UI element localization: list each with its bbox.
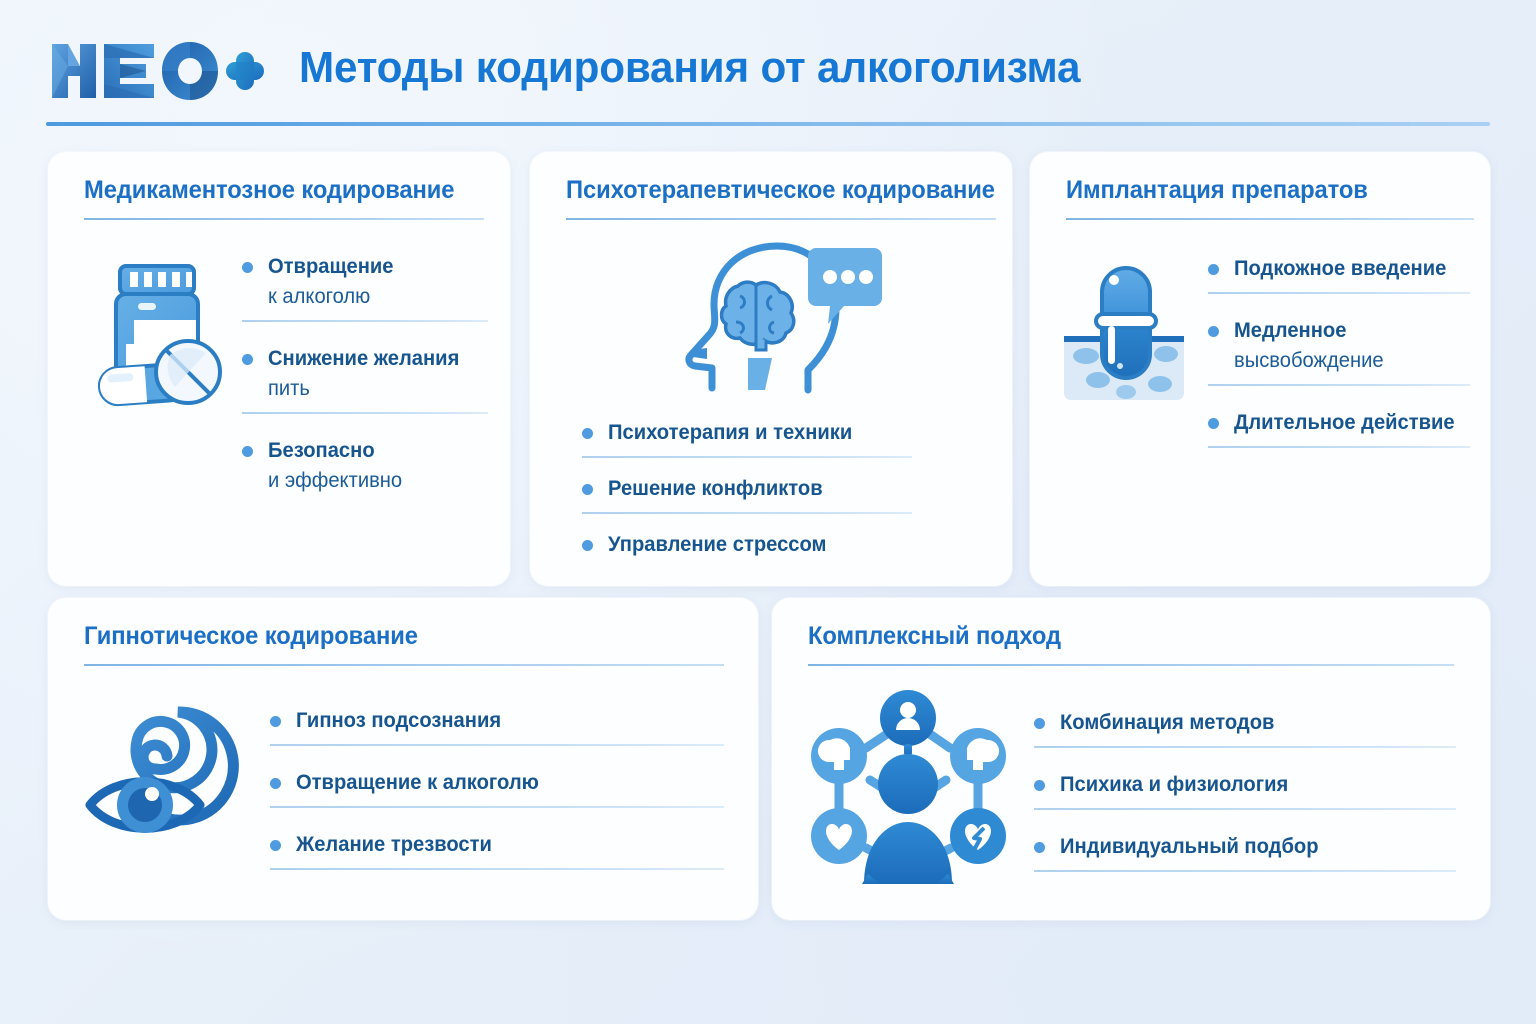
list-item-primary: Психика и физиология (1060, 770, 1440, 800)
bullet-dot-icon (582, 540, 593, 551)
list-separator (1208, 292, 1470, 294)
pill-bottle-icon (78, 258, 228, 410)
bullet-dot-icon (1034, 780, 1045, 791)
list-item-secondary: и эффективно (268, 466, 479, 496)
list-item[interactable]: Длительное действие (1208, 408, 1470, 438)
card-title-divider (84, 664, 724, 666)
list-separator (1208, 384, 1470, 386)
card-body: Подкожное введение Медленное высвобожден… (1058, 248, 1470, 470)
card-title-divider (566, 218, 996, 220)
list-separator (582, 512, 912, 514)
page-title: Методы кодирования от алкоголизма (299, 38, 1080, 98)
list-item-primary: Отвращение к алкоголю (296, 768, 707, 798)
list-separator (270, 744, 724, 746)
bullet-list: Подкожное введение Медленное высвобожден… (1208, 248, 1470, 470)
header-divider (46, 122, 1490, 126)
list-item-secondary: высвобождение (1234, 346, 1461, 376)
bullet-dot-icon (270, 716, 281, 727)
bullet-dot-icon (270, 778, 281, 789)
bullet-dot-icon (582, 428, 593, 439)
list-item-primary: Индивидуальный подбор (1060, 832, 1440, 862)
card-implantaciya-preparatov[interactable]: Имплантация препаратов (1030, 152, 1490, 586)
list-item-primary: Медленное (1234, 316, 1461, 346)
list-item[interactable]: Гипноз подсознания (270, 706, 724, 736)
list-item[interactable]: Психика и физиология (1034, 770, 1456, 800)
list-separator (1208, 446, 1470, 448)
list-separator (270, 806, 724, 808)
bullet-dot-icon (1208, 264, 1219, 275)
list-item-primary: Желание трезвости (296, 830, 707, 860)
card-title: Имплантация препаратов (1066, 176, 1368, 205)
bullet-dot-icon (270, 840, 281, 851)
bullet-dot-icon (242, 446, 253, 457)
list-item-primary: Отвращение (268, 252, 479, 282)
list-item-primary: Управление стрессом (608, 530, 900, 560)
list-item-primary: Длительное действие (1234, 408, 1461, 438)
card-psihoterapevticheskoe-kodirovanie[interactable]: Психотерапевтическое кодирование (530, 152, 1012, 586)
card-title-divider (1066, 218, 1474, 220)
list-item-primary: Психотерапия и техники (608, 418, 900, 448)
list-item[interactable]: Психотерапия и техники (582, 418, 912, 448)
list-separator (270, 868, 724, 870)
capsule-implant-icon (1058, 258, 1190, 408)
list-item-primary: Комбинация методов (1060, 708, 1440, 738)
card-title: Гипнотическое кодирование (84, 622, 418, 651)
bullet-dot-icon (1034, 842, 1045, 853)
bullet-dot-icon (242, 354, 253, 365)
list-item[interactable]: Индивидуальный подбор (1034, 832, 1456, 862)
neo-plus-logo (50, 40, 265, 102)
card-body: Комбинация методов Психика и физиология … (808, 668, 1456, 894)
list-separator (1034, 746, 1456, 748)
people-network-icon (808, 688, 1008, 884)
list-item[interactable]: Желание трезвости (270, 830, 724, 860)
list-item[interactable]: Подкожное введение (1208, 254, 1470, 284)
card-body: Гипноз подсознания Отвращение к алкоголю… (84, 684, 724, 892)
card-title-divider (84, 218, 484, 220)
list-item-secondary: пить (268, 374, 479, 404)
list-item-secondary: к алкоголю (268, 282, 479, 312)
page-header: Методы кодирования от алкоголизма (46, 34, 1490, 132)
list-item[interactable]: Медленное высвобождение (1208, 316, 1470, 376)
card-title: Психотерапевтическое кодирование (566, 176, 995, 205)
card-title-divider (808, 664, 1454, 666)
list-item-primary: Гипноз подсознания (296, 706, 707, 736)
list-item[interactable]: Отвращение к алкоголю (270, 768, 724, 798)
card-body: Отвращение к алкоголю Снижение желания п… (78, 244, 488, 496)
list-separator (242, 412, 488, 414)
list-separator (582, 456, 912, 458)
list-item[interactable]: Отвращение к алкоголю (242, 252, 488, 312)
card-title: Комплексный подход (808, 622, 1061, 651)
list-item[interactable]: Безопасно и эффективно (242, 436, 488, 496)
bullet-dot-icon (1034, 718, 1045, 729)
bullet-list: Психотерапия и техники Решение конфликто… (582, 418, 912, 560)
bullet-dot-icon (1208, 418, 1219, 429)
card-body: Психотерапия и техники Решение конфликто… (560, 238, 990, 560)
list-item-primary: Снижение желания (268, 344, 479, 374)
list-item-primary: Подкожное введение (1234, 254, 1461, 284)
bullet-dot-icon (242, 262, 253, 273)
card-kompleksnyy-podhod[interactable]: Комплексный подход (772, 598, 1490, 920)
bullet-list: Отвращение к алкоголю Снижение желания п… (242, 244, 488, 496)
card-medikamentoznoe-kodirovanie[interactable]: Медикаментозное кодирование (48, 152, 510, 586)
list-item-primary: Безопасно (268, 436, 479, 466)
list-separator (242, 320, 488, 322)
bullet-list: Комбинация методов Психика и физиология … (1034, 668, 1456, 894)
card-gipnoticheskoe-kodirovanie[interactable]: Гипнотическое кодирование (48, 598, 758, 920)
list-separator (1034, 870, 1456, 872)
list-item-primary: Решение конфликтов (608, 474, 900, 504)
bullet-list: Гипноз подсознания Отвращение к алкоголю… (270, 684, 724, 892)
head-brain-speech-icon (660, 238, 890, 396)
infographic-page: Методы кодирования от алкоголизма Медика… (0, 0, 1536, 1024)
list-item[interactable]: Снижение желания пить (242, 344, 488, 404)
hypnosis-eye-spiral-icon (84, 694, 244, 844)
card-title: Медикаментозное кодирование (84, 176, 454, 205)
list-item[interactable]: Решение конфликтов (582, 474, 912, 504)
list-separator (1034, 808, 1456, 810)
list-item[interactable]: Комбинация методов (1034, 708, 1456, 738)
bullet-dot-icon (1208, 326, 1219, 337)
list-item[interactable]: Управление стрессом (582, 530, 912, 560)
bullet-dot-icon (582, 484, 593, 495)
